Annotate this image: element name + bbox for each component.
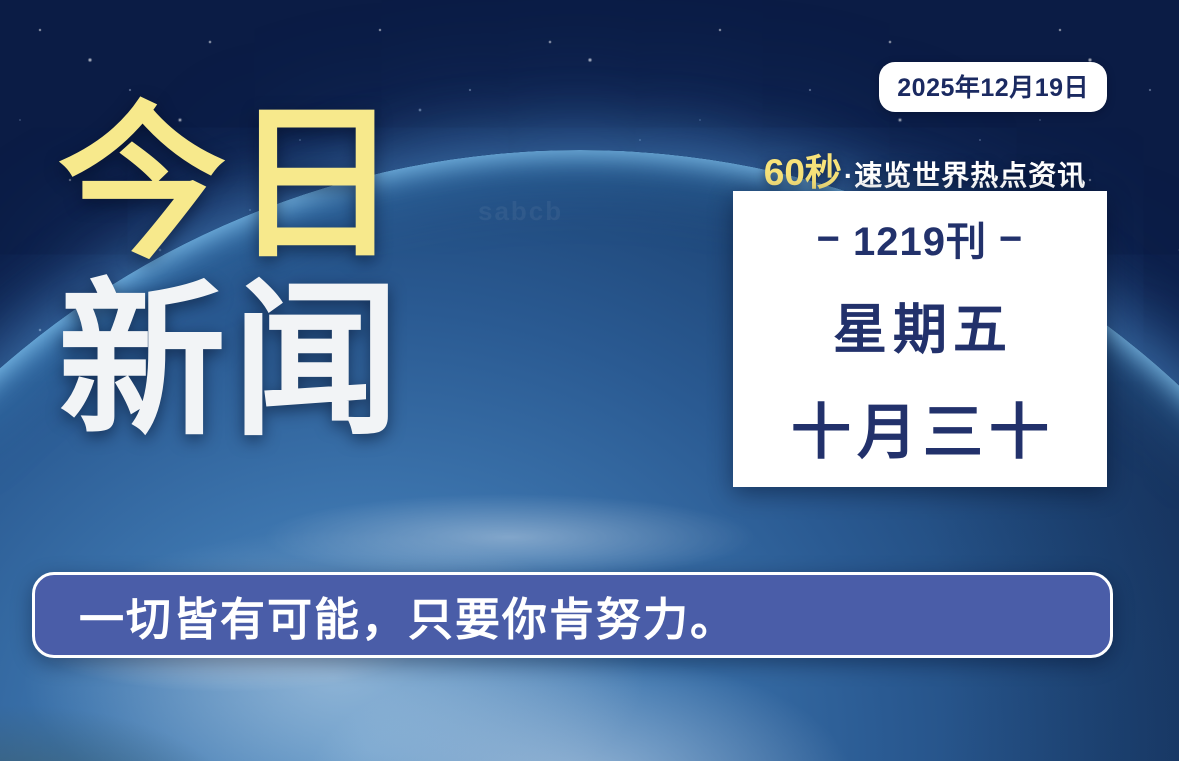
watermark-text: sabcb [478, 196, 563, 227]
news-poster: sabcb 今日 新闻 2025年12月19日 60秒·速览世界热点资讯 −12… [0, 0, 1179, 761]
issue-dash-right: − [987, 217, 1035, 261]
lunar-date-label: 十月三十 [785, 384, 1055, 471]
weekday-label: 星期五 [827, 285, 1013, 364]
headline-line-1: 今日 [58, 104, 406, 265]
info-card: −1219刊− 星期五 十月三十 [733, 191, 1107, 487]
tagline-seconds: 60秒 [764, 152, 842, 193]
tagline: 60秒·速览世界热点资讯 [740, 142, 1110, 196]
issue-number-row: −1219刊− [805, 209, 1036, 267]
date-badge: 2025年12月19日 [879, 62, 1107, 112]
headline-line-2: 新闻 [58, 281, 406, 442]
page-title: 今日 新闻 [58, 104, 406, 443]
quote-text: 一切皆有可能，只要你肯努力。 [35, 583, 737, 648]
quote-banner: 一切皆有可能，只要你肯努力。 [32, 572, 1113, 658]
issue-dash-left: − [805, 217, 853, 261]
tagline-rest: ·速览世界热点资讯 [844, 160, 1086, 191]
issue-number: 1219刊 [853, 220, 987, 264]
